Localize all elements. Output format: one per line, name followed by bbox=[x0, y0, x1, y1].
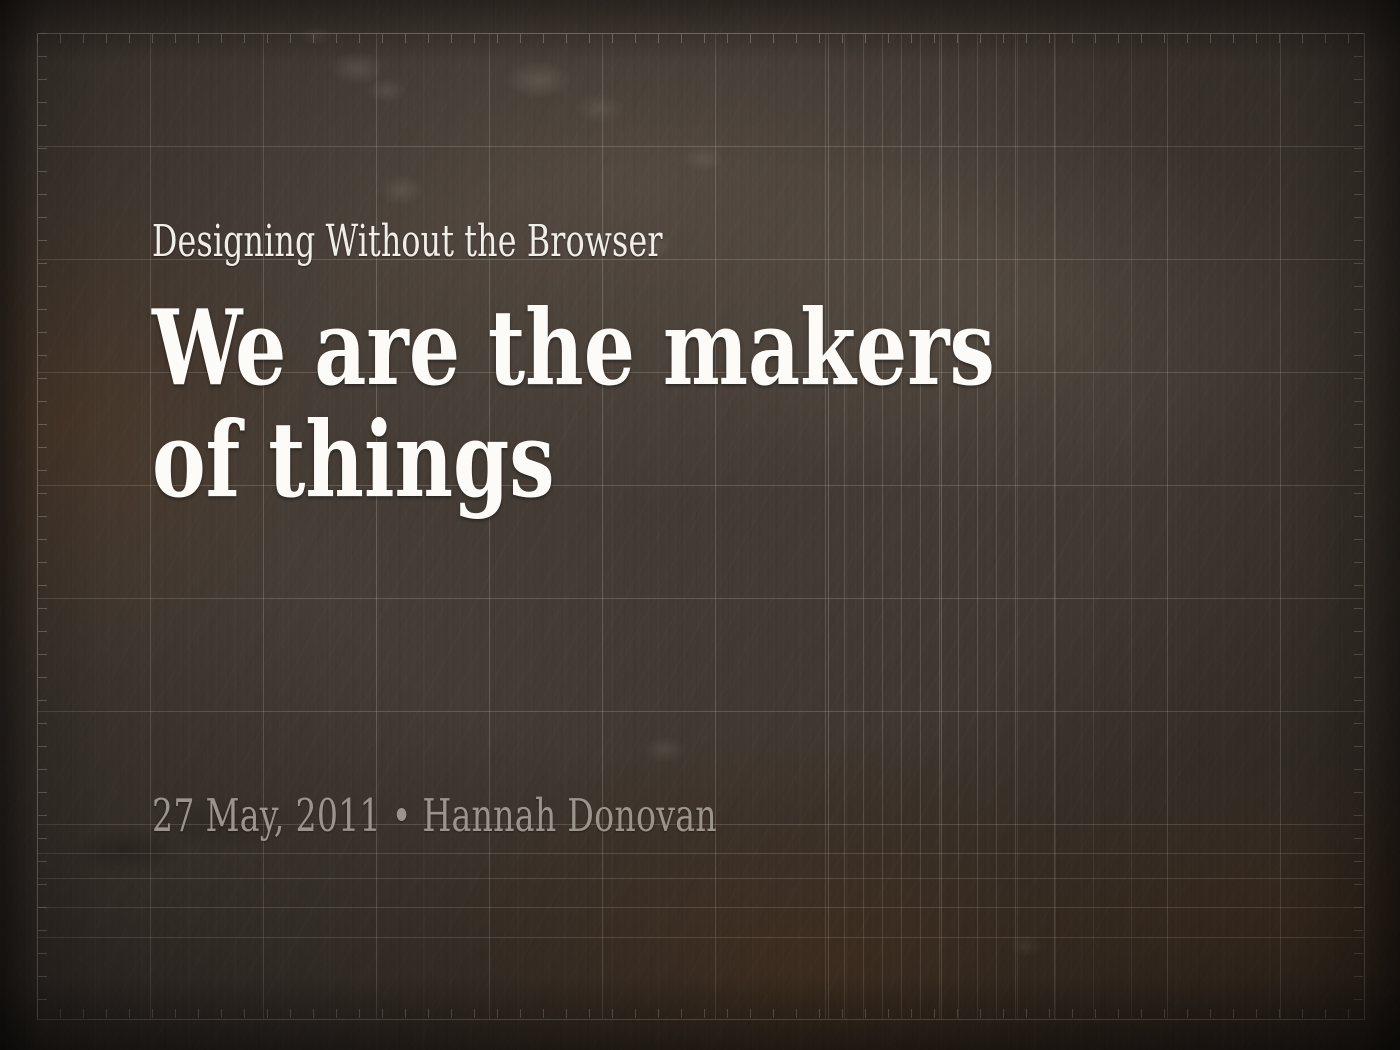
page-title: We are the makers of things bbox=[152, 292, 995, 516]
slide-text-block: Designing Without the Browser We are the… bbox=[152, 0, 1252, 1050]
slide-byline: 27 May, 2011 • Hannah Donovan bbox=[152, 789, 717, 842]
ruler-ticks-left bbox=[38, 33, 47, 1019]
presentation-slide: Designing Without the Browser We are the… bbox=[0, 0, 1400, 1050]
ruler-ticks-right bbox=[1354, 33, 1363, 1019]
slide-eyebrow-talk-title: Designing Without the Browser bbox=[152, 216, 663, 267]
